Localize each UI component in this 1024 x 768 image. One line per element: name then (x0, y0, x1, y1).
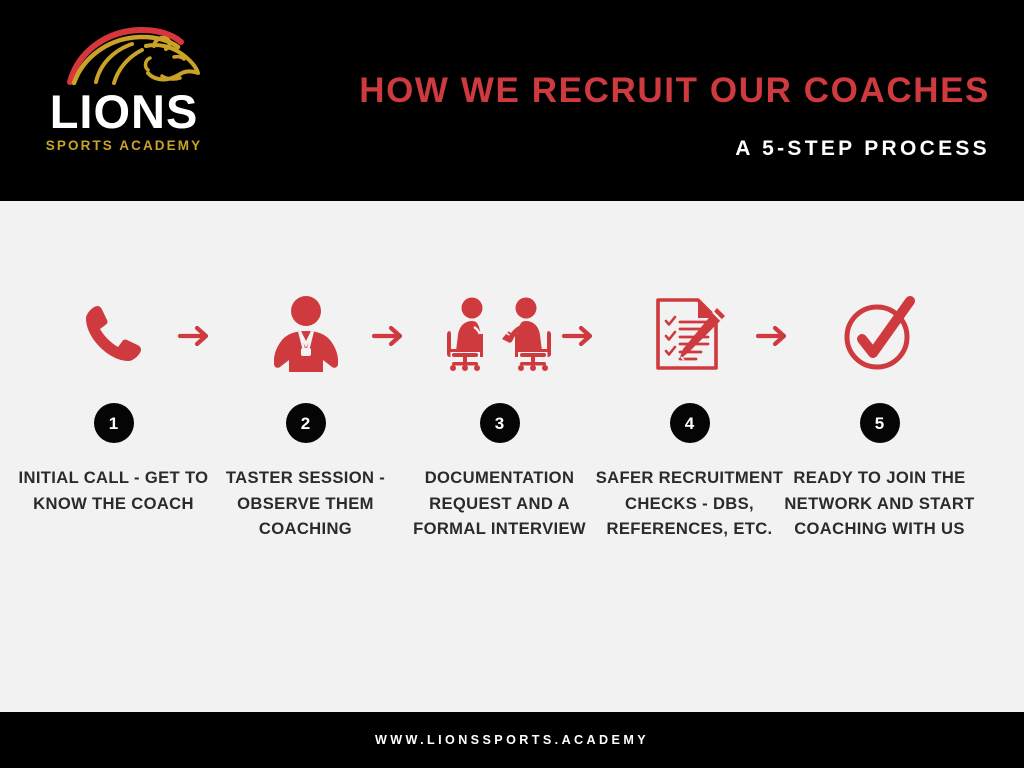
steps-section: 1 INITIAL CALL - GET TO KNOW THE COACH (0, 201, 1024, 712)
step-number-badge: 2 (286, 403, 326, 443)
step-label: TASTER SESSION - OBSERVE THEM COACHING (208, 465, 403, 542)
infographic-page: LIONS SPORTS ACADEMY HOW WE RECRUIT OUR … (0, 0, 1024, 768)
step-number-badge: 1 (94, 403, 134, 443)
step-label: READY TO JOIN THE NETWORK AND START COAC… (782, 465, 977, 542)
page-title: HOW WE RECRUIT OUR COACHES (0, 70, 990, 112)
website-url: WWW.LIONSSPORTS.ACADEMY (375, 733, 649, 747)
header-band: LIONS SPORTS ACADEMY HOW WE RECRUIT OUR … (0, 0, 1024, 201)
step-label: INITIAL CALL - GET TO KNOW THE COACH (16, 465, 211, 516)
footer-band: WWW.LIONSSPORTS.ACADEMY (0, 712, 1024, 768)
step-number-badge: 5 (860, 403, 900, 443)
step-label: DOCUMENTATION REQUEST AND A FORMAL INTER… (402, 465, 597, 542)
step-number-badge: 4 (670, 403, 710, 443)
step-number-badge: 3 (480, 403, 520, 443)
check-circle-icon (782, 286, 977, 381)
steps-row: 1 INITIAL CALL - GET TO KNOW THE COACH (10, 201, 1014, 712)
step-label: SAFER RECRUITMENT CHECKS - DBS, REFERENC… (592, 465, 787, 542)
process-step: 5 READY TO JOIN THE NETWORK AND START CO… (782, 286, 977, 542)
page-subtitle: A 5-STEP PROCESS (0, 136, 990, 162)
